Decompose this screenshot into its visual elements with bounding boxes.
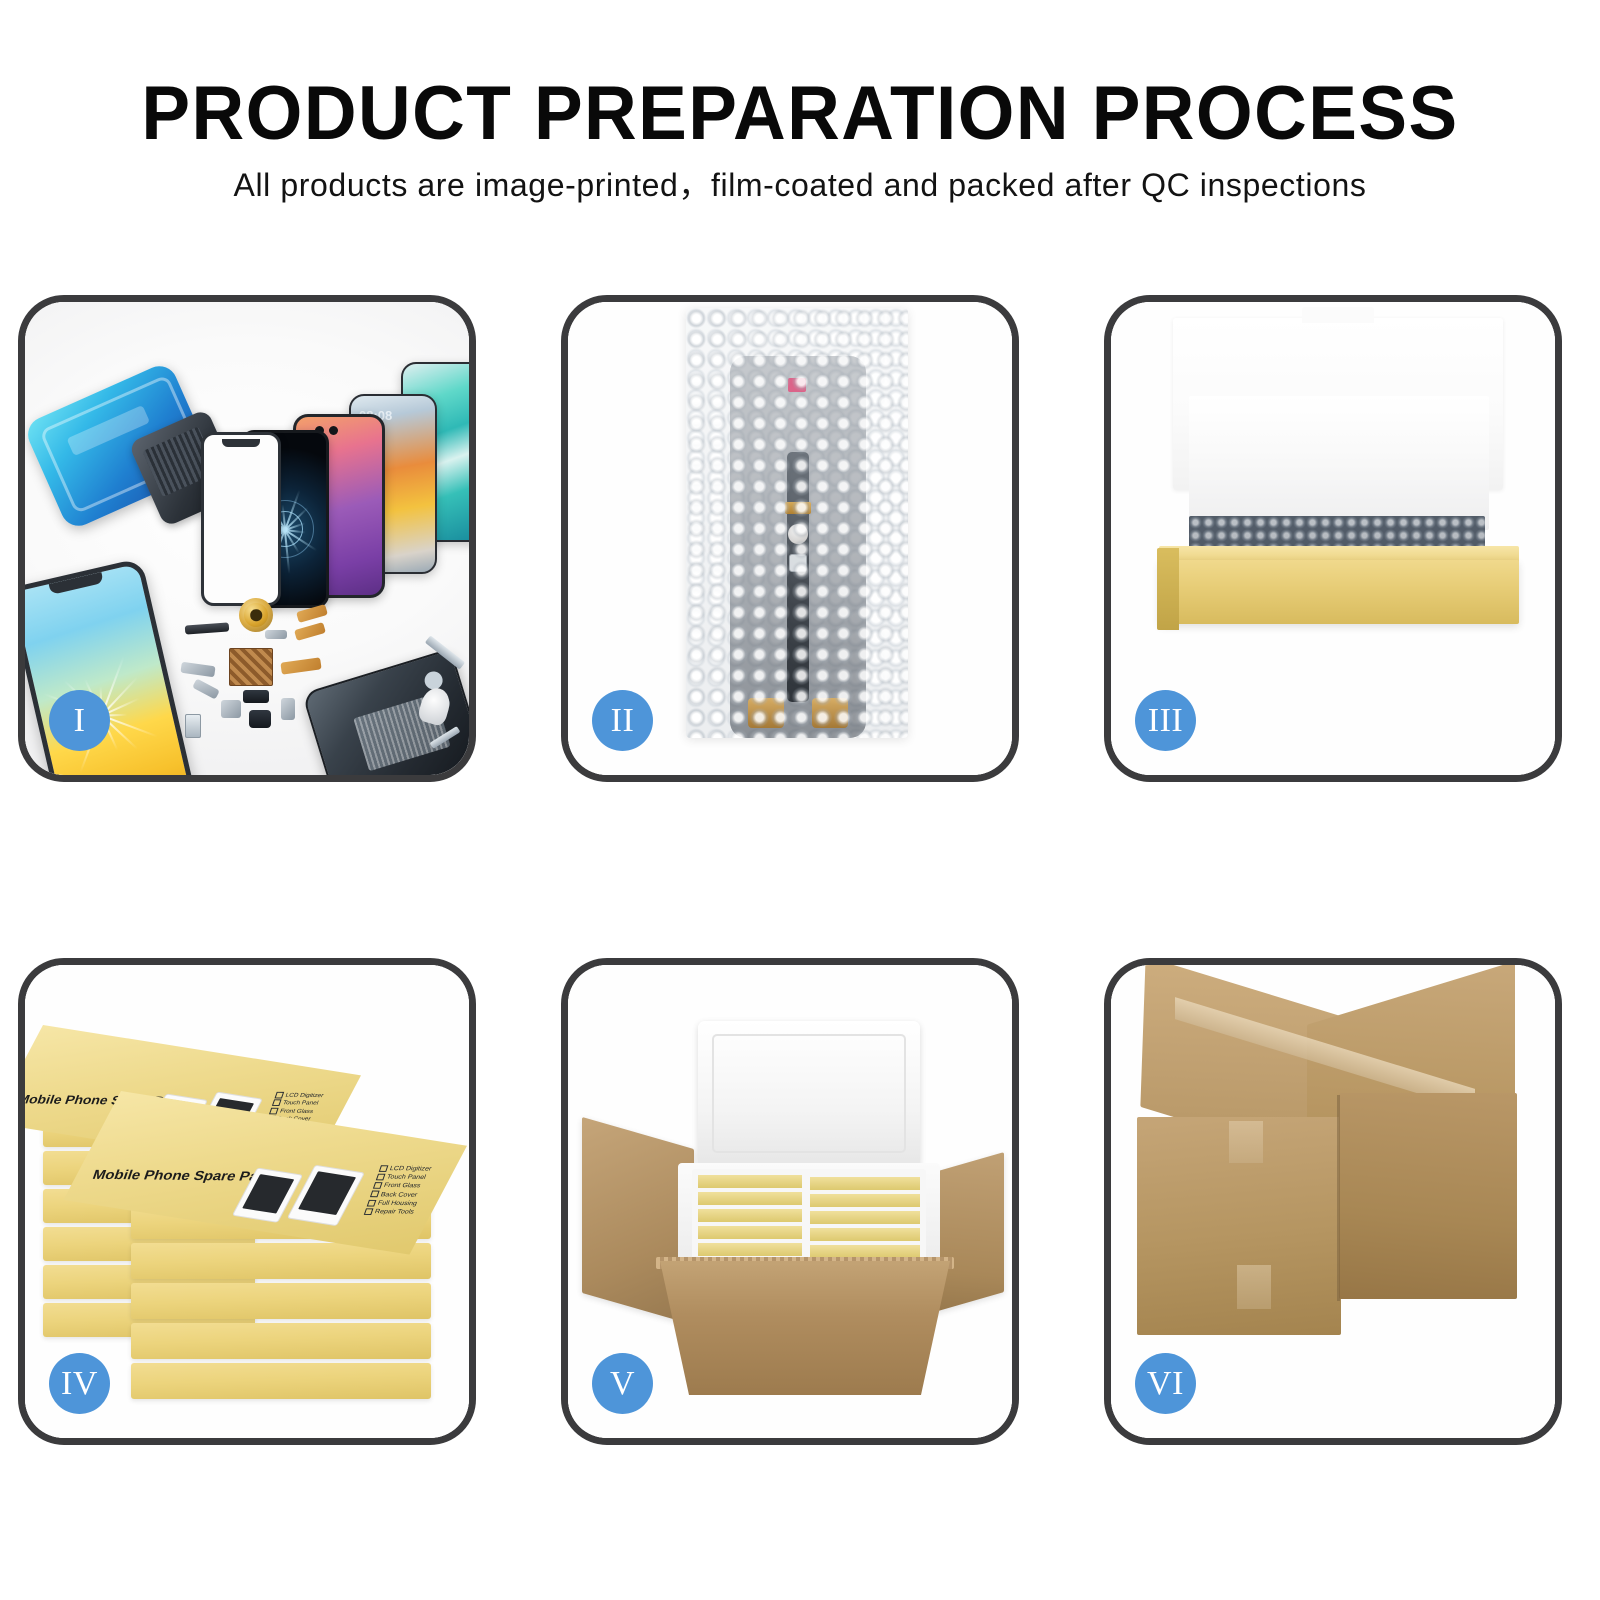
packing-tape-front-upper	[1229, 1121, 1263, 1163]
step-badge-1: I	[49, 690, 110, 751]
earpiece-mesh-part	[185, 622, 230, 634]
button-flex-part	[180, 662, 215, 678]
step-card-5[interactable]: V	[561, 958, 1019, 1445]
mailer-box-base	[1159, 560, 1519, 624]
foam-lid	[698, 1021, 920, 1169]
foam-cavity	[692, 1169, 926, 1261]
carton-body	[660, 1261, 950, 1395]
step-card-1[interactable]: 08:08	[18, 295, 476, 782]
packing-tape-front-lower	[1237, 1265, 1271, 1309]
carton-corner-seam	[1337, 1095, 1340, 1301]
volume-flex-part	[192, 678, 220, 699]
process-steps-grid: 08:08	[0, 0, 1600, 1600]
step-badge-3: III	[1135, 690, 1196, 751]
mailer-box-side	[1157, 548, 1179, 630]
step-badge-5: V	[592, 1353, 653, 1414]
phone-cracked-color	[25, 558, 197, 775]
step-card-6[interactable]: VI	[1104, 958, 1562, 1445]
step-card-3[interactable]: III	[1104, 295, 1562, 782]
flex-cable-part-b	[294, 622, 326, 641]
step-badge-2: II	[592, 690, 653, 751]
vibrator-part	[281, 698, 295, 720]
sensor-flex-part	[265, 630, 287, 639]
taptic-engine-part	[249, 710, 271, 728]
bubble-texture-overlay	[686, 308, 908, 738]
camera-module-part	[221, 700, 241, 718]
step-card-2[interactable]: II	[561, 295, 1019, 782]
speaker-part	[243, 690, 269, 703]
step-badge-4: IV	[49, 1353, 110, 1414]
power-flex-part	[280, 657, 321, 674]
sim-tray-part	[185, 714, 201, 738]
bubble-wrap-sheet	[686, 308, 908, 738]
front-glass-panel	[201, 432, 281, 606]
wireless-coil-part	[239, 598, 273, 632]
step-badge-6: VI	[1135, 1353, 1196, 1414]
step-card-4[interactable]: Mobile Phone Spare Parts LCD DigitizerTo…	[18, 958, 476, 1445]
mailer-box-inner-flap	[1189, 396, 1489, 530]
retail-box-checklist-2: LCD DigitizerTouch PanelFront GlassBack …	[363, 1164, 432, 1216]
ic-chip-part	[229, 648, 273, 686]
carton-side-panel	[1339, 1093, 1517, 1299]
